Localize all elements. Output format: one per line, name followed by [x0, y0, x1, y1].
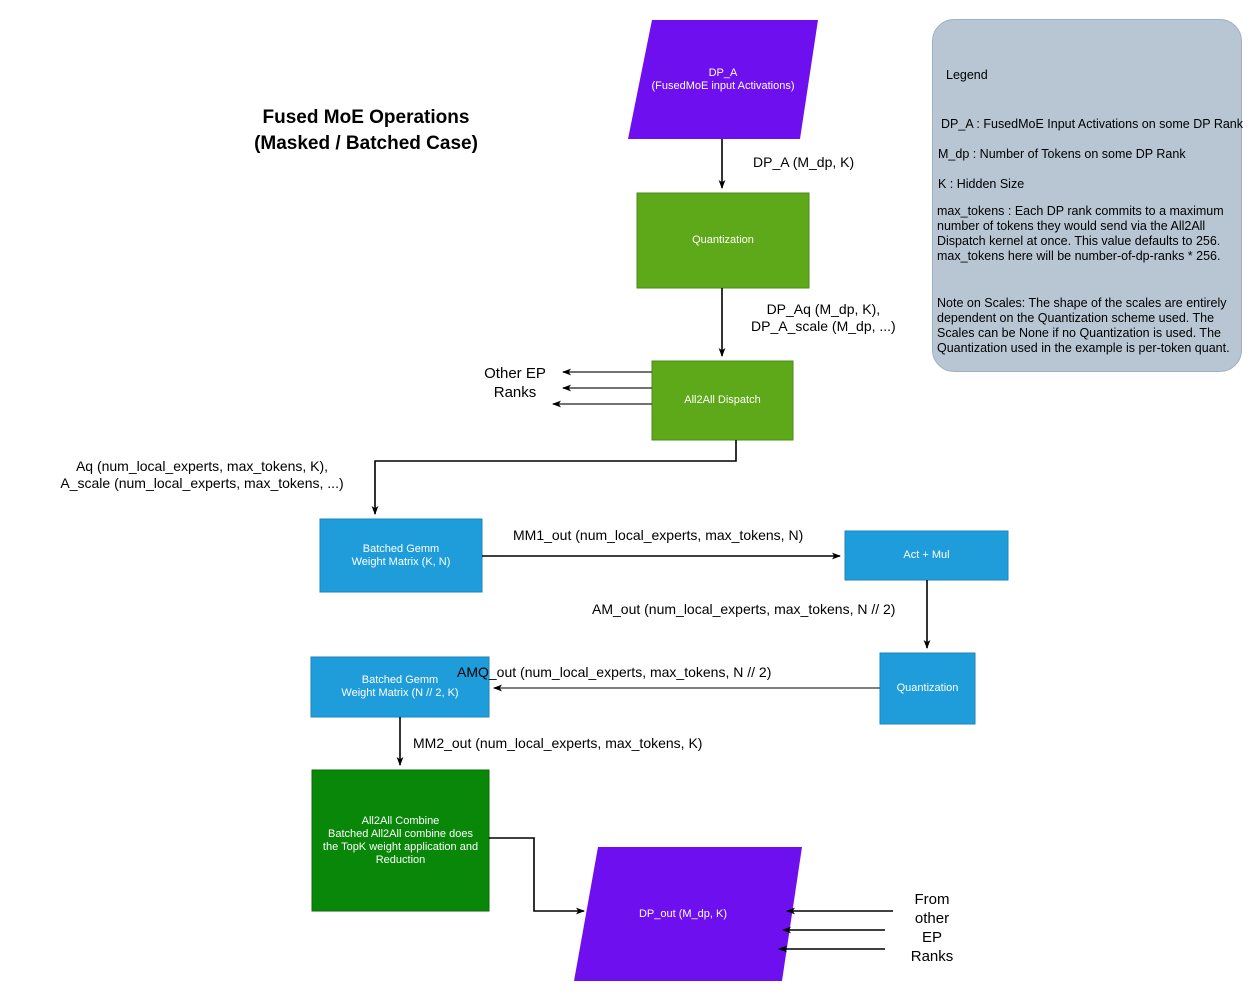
node-act-mul-label: Act + Mul: [845, 531, 1008, 580]
node-all2all-dispatch-shape: [652, 361, 793, 440]
legend-line-dp-a: DP_A : FusedMoE Input Activations on som…: [941, 117, 1243, 132]
node-all2all-dispatch-label: All2All Dispatch: [652, 361, 793, 440]
edge-label-dp-a-out: DP_A (M_dp, K): [753, 154, 854, 171]
edge-label-mm1-out: MM1_out (num_local_experts, max_tokens, …: [513, 527, 803, 544]
page-title: Fused MoE Operations (Masked / Batched C…: [196, 105, 536, 157]
legend-line-max-tokens: max_tokens : Each DP rank commits to a m…: [937, 204, 1224, 264]
edge-label-am-out: AM_out (num_local_experts, max_tokens, N…: [592, 601, 895, 618]
node-all2all-combine-label: All2All Combine Batched All2All combine …: [312, 770, 489, 911]
edge-label-dispatch-out: Aq (num_local_experts, max_tokens, K), A…: [42, 458, 362, 492]
node-batched-gemm-1-shape: [320, 519, 482, 592]
legend-line-note-on-scales: Note on Scales: The shape of the scales …: [937, 296, 1230, 356]
legend-line-m-dp: M_dp : Number of Tokens on some DP Rank: [938, 147, 1186, 162]
diagram-canvas: Fused MoE Operations (Masked / Batched C…: [0, 0, 1260, 1001]
node-quantization-1-label: Quantization: [637, 193, 809, 288]
edge-label-quant1-out: DP_Aq (M_dp, K), DP_A_scale (M_dp, ...): [751, 301, 896, 335]
node-dp-a-shape: [628, 20, 818, 139]
edge-dispatch-to-batched-gemm-1: [375, 440, 736, 514]
node-quantization-1-shape: [637, 193, 809, 288]
node-dp-out-label: DP_out (M_dp, K): [578, 847, 788, 981]
legend-line-k: K : Hidden Size: [938, 177, 1024, 192]
edge-label-amq-out: AMQ_out (num_local_experts, max_tokens, …: [457, 664, 771, 681]
node-dp-out-shape: [574, 847, 802, 981]
edge-label-mm2-out: MM2_out (num_local_experts, max_tokens, …: [413, 735, 702, 752]
edge-all2all-combine-to-dp-out: [489, 838, 584, 911]
node-batched-gemm-1-label: Batched Gemm Weight Matrix (K, N): [320, 519, 482, 592]
label-from-other-ep-ranks: From other EP Ranks: [898, 890, 966, 966]
node-all2all-combine-shape: [312, 770, 489, 911]
node-quantization-2-shape: [880, 653, 975, 724]
node-act-mul-shape: [845, 531, 1008, 580]
label-other-ep-ranks: Other EP Ranks: [470, 364, 560, 402]
node-quantization-2-label: Quantization: [880, 653, 975, 724]
node-dp-a-label: DP_A (FusedMoE input Activations): [628, 20, 818, 139]
legend-title: Legend: [946, 68, 988, 83]
